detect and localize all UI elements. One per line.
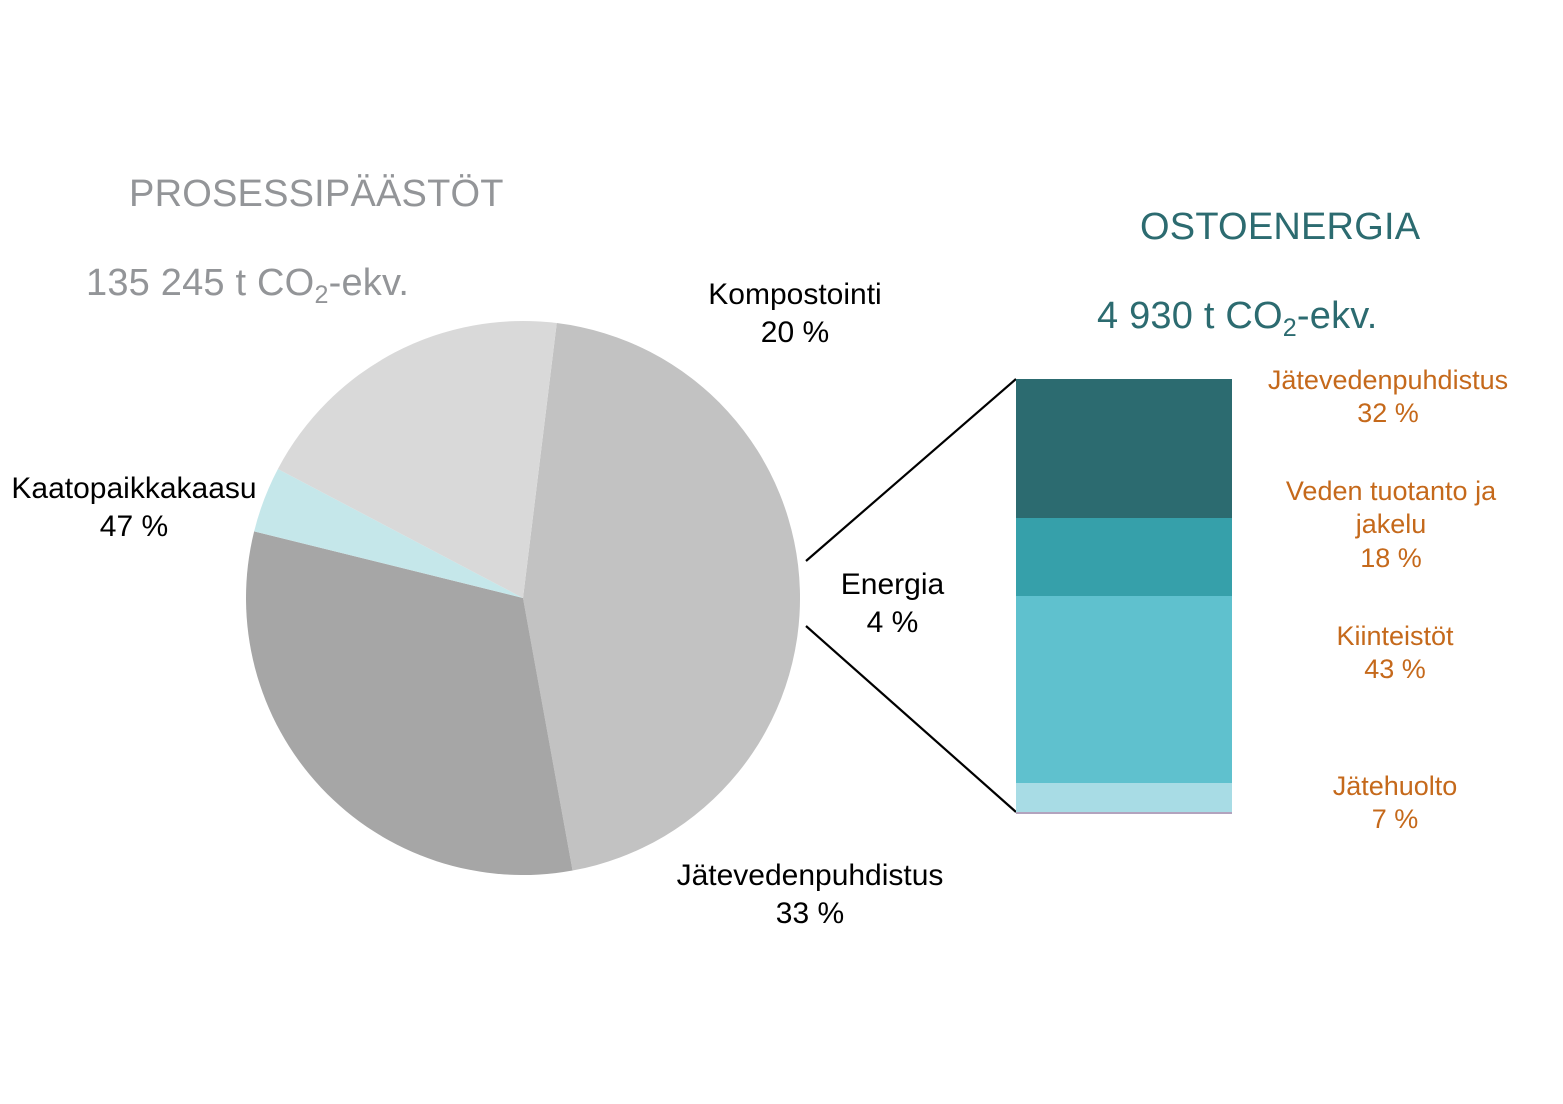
bar-label-jatevedenpuhdistus: Jätevedenpuhdistus 32 % (1243, 364, 1533, 431)
bar-label-jatehuolto-name: Jätehuolto (1270, 770, 1520, 803)
bar-label-jatevedenpuhdistus-value: 32 % (1243, 397, 1533, 430)
pie-slices (246, 321, 800, 875)
bar-label-kiinteistot: Kiinteistöt 43 % (1270, 620, 1520, 687)
pie-label-kaatopaikkakaasu-name: Kaatopaikkakaasu (4, 470, 264, 508)
pie-label-jatevedenpuhdistus-value: 33 % (655, 895, 965, 933)
pie-slice-kaatopaikkakaasu (523, 323, 800, 870)
stacked-bar-baseline (1016, 812, 1232, 814)
process-title-line1: PROSESSIPÄÄSTÖT (129, 173, 504, 215)
bar-label-veden-value: 18 % (1251, 542, 1531, 575)
bar-label-veden-name: Veden tuotanto ja jakelu (1251, 475, 1531, 542)
bar-label-kiinteistot-value: 43 % (1270, 653, 1520, 686)
bar-label-jatevedenpuhdistus-name: Jätevedenpuhdistus (1243, 364, 1533, 397)
pie-label-jatevedenpuhdistus-name: Jätevedenpuhdistus (655, 857, 965, 895)
bar-label-jatehuolto-value: 7 % (1270, 803, 1520, 836)
purchased-energy-stacked-bar (1016, 379, 1232, 813)
bar-segment-j-tehuolto (1016, 783, 1232, 813)
bar-label-jatehuolto: Jätehuolto 7 % (1270, 770, 1520, 837)
bar-segment-veden-tuotanto-ja-jakelu (1016, 518, 1232, 596)
process-emissions-pie-chart (243, 318, 803, 878)
energy-title-line1: OSTOENERGIA (1140, 206, 1420, 248)
pie-label-energia-name: Energia (805, 566, 980, 604)
pie-label-kaatopaikkakaasu: Kaatopaikkakaasu 47 % (4, 470, 264, 546)
pie-label-kompostointi-value: 20 % (660, 314, 930, 352)
pie-label-energia-value: 4 % (805, 604, 980, 642)
connector-line-top (806, 379, 1016, 561)
energy-title-line2: 4 930 t CO2-ekv. (1097, 294, 1420, 339)
bar-label-veden-tuotanto-ja-jakelu: Veden tuotanto ja jakelu 18 % (1251, 475, 1531, 575)
bar-segment-kiinteist-t (1016, 596, 1232, 783)
pie-label-energia: Energia 4 % (805, 566, 980, 642)
connector-line-bottom (806, 626, 1016, 812)
pie-label-kompostointi-name: Kompostointi (660, 276, 930, 314)
pie-label-kompostointi: Kompostointi 20 % (660, 276, 930, 352)
pie-label-jatevedenpuhdistus: Jätevedenpuhdistus 33 % (655, 857, 965, 933)
co2-subscript: 2 (314, 281, 328, 309)
co2-subscript: 2 (1283, 314, 1297, 342)
process-title-line2: 135 245 t CO2-ekv. (86, 261, 504, 306)
chart-canvas: PROSESSIPÄÄSTÖT 135 245 t CO2-ekv. OSTOE… (0, 0, 1563, 1104)
bar-segment-j-tevedenpuhdistus (1016, 379, 1232, 518)
pie-label-kaatopaikkakaasu-value: 47 % (4, 508, 264, 546)
bar-label-kiinteistot-name: Kiinteistöt (1270, 620, 1520, 653)
